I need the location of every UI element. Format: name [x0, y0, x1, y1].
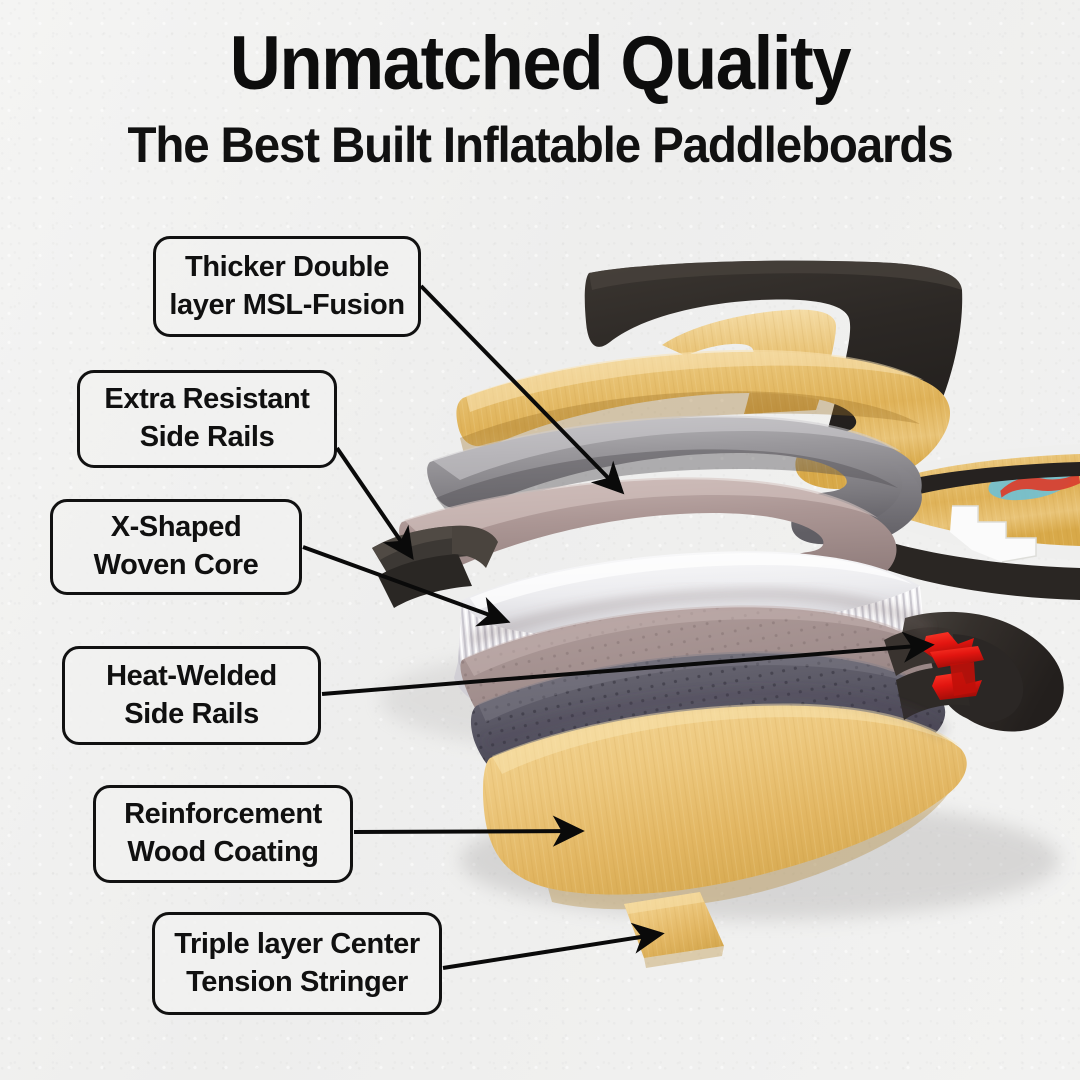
- callout-heat-welded-side-rails[interactable]: Heat-Welded Side Rails: [62, 646, 321, 745]
- callout-extra-resistant-side-rails[interactable]: Extra Resistant Side Rails: [77, 370, 337, 468]
- callout-x-shaped-woven-core[interactable]: X-Shaped Woven Core: [50, 499, 302, 595]
- callout-label: Reinforcement Wood Coating: [124, 796, 322, 871]
- infographic-canvas: Unmatched Quality The Best Built Inflata…: [0, 0, 1080, 1080]
- callout-label: Triple layer Center Tension Stringer: [174, 926, 419, 1001]
- callout-triple-layer-center-tension-stringer[interactable]: Triple layer Center Tension Stringer: [152, 912, 442, 1015]
- callout-thicker-double-layer-msl-fusion[interactable]: Thicker Double layer MSL-Fusion: [153, 236, 421, 337]
- callout-label: X-Shaped Woven Core: [94, 509, 259, 584]
- callout-reinforcement-wood-coating[interactable]: Reinforcement Wood Coating: [93, 785, 353, 883]
- callout-label: Thicker Double layer MSL-Fusion: [169, 249, 404, 324]
- callout-label: Extra Resistant Side Rails: [104, 381, 309, 456]
- callout-label: Heat-Welded Side Rails: [106, 658, 277, 733]
